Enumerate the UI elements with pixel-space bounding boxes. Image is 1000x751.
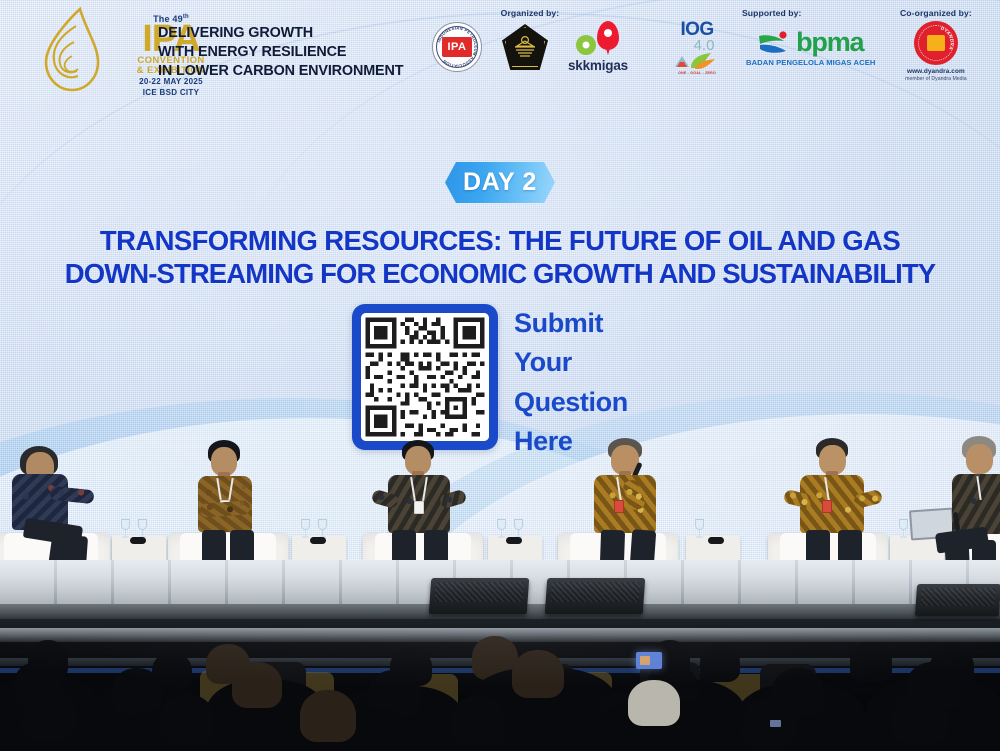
table-microphone	[310, 537, 326, 544]
stage-monitor-speaker	[429, 578, 530, 614]
panelist-5-badge	[822, 500, 832, 513]
panelist-4-badge	[614, 500, 624, 513]
audience-head	[700, 644, 740, 682]
ipa-droplet-icon	[36, 6, 106, 94]
audience-head	[512, 650, 564, 698]
water-glass	[138, 519, 147, 539]
dyandra-url: www.dyandra.com	[907, 68, 965, 75]
supported-by-caption: Supported by:	[668, 8, 875, 18]
ipa-venue: ICE BSD CITY	[112, 88, 230, 97]
tagline-line-3: IN LOWER CARBON ENVIRONMENT	[158, 62, 403, 81]
audience-head	[232, 662, 282, 708]
audience-head	[892, 692, 948, 744]
event-tagline: DELIVERING GROWTH WITH ENERGY RESILIENCE…	[158, 24, 403, 81]
iog40-logo: IOG 4.0 ONE - GOAL - ZERO	[668, 21, 726, 75]
audience-head	[112, 668, 162, 714]
cta-line-1: Submit	[514, 304, 774, 343]
tagline-line-2: WITH ENERGY RESILIENCE	[158, 43, 403, 62]
session-title-line-2: DOWN-STREAMING FOR ECONOMIC GROWTH AND S…	[0, 257, 1000, 290]
panelist-3-badge	[414, 501, 424, 514]
conference-stage-photo: The 49th IPA CONVENTION & EXHIBITION 20-…	[0, 0, 1000, 751]
audience-phone-screen	[636, 652, 662, 669]
stage-monitor-speaker	[545, 578, 646, 614]
water-glass	[514, 519, 523, 539]
iog-footer: ONE - GOAL - ZERO	[678, 71, 716, 75]
water-glass	[497, 519, 506, 539]
table-microphone	[130, 537, 146, 544]
ipa-seal-label: IPA	[442, 37, 472, 57]
audience-head	[22, 690, 76, 740]
table-microphone	[708, 537, 724, 544]
kementerian-esdm-logo	[502, 24, 548, 70]
tagline-line-1: DELIVERING GROWTH	[158, 24, 403, 43]
audience-phone-screen	[770, 720, 781, 727]
skkmigas-pin-icon	[575, 21, 621, 57]
svg-text:INDONESIAN PETROLEUM ASSOCIATI: INDONESIAN PETROLEUM ASSOCIATION	[436, 25, 478, 68]
audience-head	[300, 690, 356, 742]
bpma-mark-icon	[758, 30, 792, 56]
dyandra-seal-icon: DYANDRA	[914, 21, 958, 65]
dyandra-logo: DYANDRA www.dyandra.com member of Dyandr…	[905, 21, 966, 82]
water-glass	[318, 519, 327, 539]
audience-head	[628, 680, 680, 726]
session-title: TRANSFORMING RESOURCES: THE FUTURE OF OI…	[0, 224, 1000, 290]
water-glass	[899, 519, 908, 539]
session-title-line-1: TRANSFORMING RESOURCES: THE FUTURE OF OI…	[100, 225, 900, 256]
supported-by-group: Supported by: IOG 4.0 ONE - GOAL - ZERO	[668, 8, 875, 75]
audience-head	[160, 694, 214, 744]
skkmigas-logo: skkmigas	[568, 21, 628, 73]
bpma-wordmark: bpma	[796, 30, 863, 54]
stage-monitor-speaker	[915, 584, 1000, 616]
audience-head	[850, 642, 892, 682]
dyandra-member-line: member of Dyandra Media	[905, 76, 966, 82]
cta-line-2: Your	[514, 343, 774, 382]
bpma-subtitle: BADAN PENGELOLA MIGAS ACEH	[746, 58, 875, 67]
skkmigas-wordmark: skkmigas	[568, 58, 628, 73]
audience-head	[450, 696, 504, 746]
audience-head	[742, 698, 796, 748]
qr-code[interactable]	[352, 304, 498, 450]
iog-flask-icon	[671, 50, 723, 70]
coorganized-by-caption: Co-organized by:	[900, 8, 972, 18]
organized-by-group: Organized by: INDONESIAN PETROLEUM ASSOC…	[432, 8, 628, 73]
bpma-logo: bpma BADAN PENGELOLA MIGAS ACEH	[746, 30, 875, 67]
water-glass	[695, 519, 704, 539]
table-microphone	[506, 537, 522, 544]
coorganized-by-group: Co-organized by: DYANDRA www	[900, 8, 972, 82]
submit-question-cta: Submit Your Question Here	[514, 304, 774, 462]
water-glass	[301, 519, 310, 539]
day-badge: DAY 2	[445, 162, 555, 203]
slide-header-bar: The 49th IPA CONVENTION & EXHIBITION 20-…	[0, 0, 1000, 100]
audience-silhouettes	[0, 628, 1000, 751]
moderator-head	[966, 444, 993, 474]
qr-code-image	[361, 313, 489, 441]
cta-line-3: Question	[514, 383, 774, 422]
organized-by-caption: Organized by:	[432, 8, 628, 18]
ipa-seal-logo: INDONESIAN PETROLEUM ASSOCIATION IPA	[432, 22, 482, 72]
water-glass	[121, 519, 130, 539]
day-badge-label: DAY 2	[463, 168, 537, 197]
